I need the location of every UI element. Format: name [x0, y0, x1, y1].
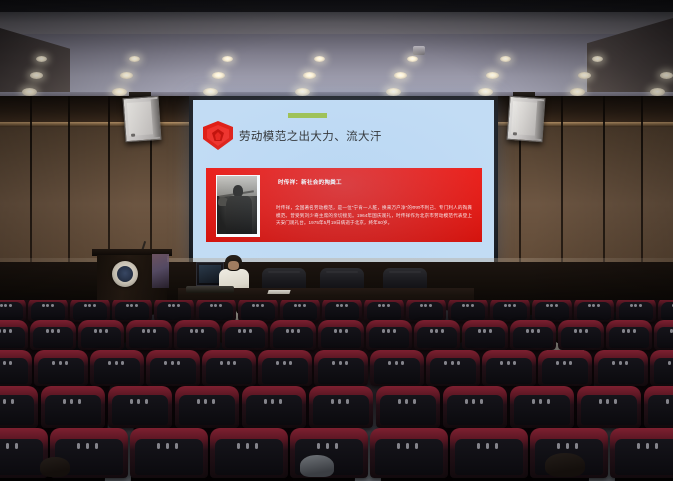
seat-back-slot: [3, 361, 6, 365]
seat-back-slot: [3, 329, 6, 333]
seat-back-slot: [397, 443, 400, 449]
auditorium-seat: [406, 300, 446, 322]
seat-back-slot: [94, 329, 97, 333]
auditorium-seat: [370, 428, 448, 478]
auditorium-seat: [538, 350, 592, 386]
auditorium-seat: [196, 300, 236, 322]
seat-cushion: [455, 439, 522, 475]
auditorium-seat: [490, 300, 530, 322]
auditorium-seat: [510, 386, 574, 428]
seat-back-slot: [477, 443, 480, 449]
projection-screen: 劳动模范之出大力、流大汗 时传祥：新社会的掏粪工 时传祥，全国著名劳动模范，是一…: [193, 100, 494, 266]
auditorium-seat: [376, 386, 440, 428]
seat-back-slot: [622, 329, 625, 333]
lectern-lit-side: [152, 254, 169, 288]
seat-back-slot: [547, 399, 550, 404]
seat-back-slot: [291, 329, 294, 333]
seat-back-slot: [413, 399, 416, 404]
auditorium-seat: [242, 386, 306, 428]
auditorium-seat: [443, 386, 507, 428]
auditorium-seat: [654, 320, 673, 350]
audience-member-head: [545, 453, 585, 477]
auditorium-seat: [610, 428, 673, 478]
seat-back-slot: [588, 304, 591, 307]
seat-back-slot: [227, 361, 230, 365]
seat-back-slot: [249, 329, 252, 333]
ceiling-downlight: [30, 72, 43, 79]
speaker-grill: [127, 101, 153, 136]
auditorium-seat: [222, 320, 268, 350]
seat-back-slot: [382, 329, 385, 333]
seat-back-slot: [415, 443, 418, 449]
ceiling-downlight: [386, 88, 401, 96]
auditorium-seat: [650, 350, 673, 386]
auditorium-seat: [532, 300, 572, 322]
seat-back-slot: [537, 329, 540, 333]
seat-back-slot: [574, 329, 577, 333]
auditorium-seat: [154, 300, 194, 322]
auditorium-seat: [78, 320, 124, 350]
seat-cushion: [375, 439, 442, 475]
auditorium-seat: [574, 300, 614, 322]
seat-back-slot: [378, 304, 381, 307]
ceiling-downlight: [570, 88, 585, 96]
seat-back-slot: [283, 361, 286, 365]
seat-back-slot: [9, 329, 12, 333]
auditorium-seat: [70, 300, 110, 322]
presenter-face: [228, 261, 239, 270]
seat-back-slot: [294, 304, 297, 307]
seat-back-slot: [51, 329, 54, 333]
seat-back-slot: [563, 361, 566, 365]
speaker-side: [535, 101, 545, 139]
ceiling-downlight: [112, 88, 127, 96]
photo-worker-body: [226, 196, 252, 234]
ceiling-downlight: [486, 72, 499, 79]
seat-back-slot: [99, 329, 102, 333]
auditorium-seat: [366, 320, 412, 350]
seat-back-slot: [105, 329, 108, 333]
slide-accent-bar: [288, 113, 327, 118]
seat-back-slot: [495, 443, 498, 449]
seat-back-slot: [42, 304, 45, 307]
ceiling-downlight: [22, 88, 37, 96]
wall-speaker-right: [507, 96, 546, 142]
auditorium-seat: [0, 350, 32, 386]
seat-back-slot: [507, 361, 510, 365]
seat-cushion: [135, 439, 202, 475]
seat-cushion: [215, 439, 282, 475]
auditorium-seat: [174, 320, 220, 350]
seat-cushion: [615, 439, 673, 475]
seat-back-slot: [646, 443, 649, 449]
seat-back-slot: [393, 329, 396, 333]
audience-member-head: [300, 455, 334, 477]
desk-papers: [267, 290, 290, 294]
auditorium-seat: [175, 386, 239, 428]
seat-back-slot: [451, 361, 454, 365]
seat-back-slot: [395, 361, 398, 365]
seat-back-slot: [579, 329, 582, 333]
ceiling-downlight: [660, 72, 673, 79]
seat-back-slot: [387, 329, 390, 333]
auditorium-seat: [594, 350, 648, 386]
seat-back-slot: [130, 399, 133, 404]
seat-back-slot: [238, 329, 241, 333]
sprinkler-head-icon: [413, 46, 425, 55]
ceiling-downlight: [212, 72, 225, 79]
auditorium-seat: [309, 386, 373, 428]
auditorium-seat: [258, 350, 312, 386]
seat-back-slot: [145, 399, 148, 404]
seat-back-slot: [175, 443, 178, 449]
ceiling-downlight: [314, 56, 325, 62]
auditorium-seat: [414, 320, 460, 350]
auditorium-seat: [28, 300, 68, 322]
seat-back-slot: [339, 329, 342, 333]
seat-back-slot: [430, 329, 433, 333]
seat-back-slot: [15, 443, 18, 449]
seat-back-slot: [255, 443, 258, 449]
seat-back-slot: [286, 329, 289, 333]
seat-back-slot: [599, 399, 602, 404]
seat-back-slot: [171, 361, 174, 365]
wall-speaker-left: [123, 96, 162, 142]
seat-back-slot: [190, 329, 193, 333]
content-box-body: 时传祥，全国著名劳动模范，是一位“宁肯一人脏，换来万户净”的राजा不利己、专门…: [276, 204, 472, 227]
auditorium-seat: [510, 320, 556, 350]
seat-back-slot: [6, 443, 9, 449]
speaker-grill: [511, 101, 537, 136]
ceiling-downlight: [129, 56, 140, 62]
seat-back-slot: [339, 361, 342, 365]
seat-back-slot: [246, 443, 249, 449]
seat-back-slot: [637, 443, 640, 449]
seat-back-slot: [345, 329, 348, 333]
seat-back-slot: [210, 304, 213, 307]
auditorium-seat: [450, 428, 528, 478]
seat-back-slot: [486, 443, 489, 449]
auditorium-seat: [34, 350, 88, 386]
auditorium-seat: [577, 386, 641, 428]
auditorium-seat: [448, 300, 488, 322]
seat-back-slot: [633, 329, 636, 333]
auditorium-seat: [482, 350, 536, 386]
auditorium-seat: [322, 300, 362, 322]
seat-back-slot: [95, 443, 98, 449]
seat-back-slot: [252, 304, 255, 307]
seat-back-slot: [670, 329, 673, 333]
ceiling-downlight: [592, 56, 603, 62]
seat-back-slot: [619, 361, 622, 365]
seat-back-slot: [63, 399, 66, 404]
ceiling-downlight: [303, 72, 316, 79]
seat-back-slot: [346, 399, 349, 404]
seat-back-slot: [326, 443, 329, 449]
ceiling-downlight: [222, 56, 233, 62]
auditorium-seat: [0, 300, 26, 322]
seat-back-slot: [201, 329, 204, 333]
seat-back-slot: [480, 399, 483, 404]
desk-equipment: [186, 286, 234, 293]
seat-back-slot: [147, 329, 150, 333]
ceiling-downlight: [478, 88, 493, 96]
seat-back-slot: [336, 304, 339, 307]
seat-back-slot: [478, 329, 481, 333]
seat-back-slot: [59, 361, 62, 365]
seat-back-slot: [57, 329, 60, 333]
seat-back-slot: [264, 399, 267, 404]
seat-back-slot: [614, 399, 617, 404]
audience-member-head: [40, 457, 70, 477]
seat-back-slot: [279, 399, 282, 404]
seat-back-slot: [465, 399, 468, 404]
auditorium-seat: [0, 320, 28, 350]
slide-content-box: 时传祥：新社会的掏粪工 时传祥，全国著名劳动模范，是一位“宁肯一人脏，换来万户净…: [206, 168, 482, 242]
auditorium-seat: [112, 300, 152, 322]
auditorium-seat: [314, 350, 368, 386]
seat-back-slot: [462, 304, 465, 307]
seat-back-slot: [11, 399, 14, 404]
auditorium-seat: [426, 350, 480, 386]
seat-back-slot: [46, 329, 49, 333]
seat-back-slot: [168, 304, 171, 307]
ceiling-downlight: [295, 88, 310, 96]
lecture-hall-photo: 劳动模范之出大力、流大汗 时传祥：新社会的掏粪工 时传祥，全国著名劳动模范，是一…: [0, 0, 673, 481]
ceiling-downlight: [650, 88, 665, 96]
seat-back-slot: [627, 329, 630, 333]
red-star-emblem-icon: [200, 120, 236, 160]
seat-back-slot: [335, 443, 338, 449]
auditorium-seat: [658, 300, 673, 322]
auditorium-seat: [370, 350, 424, 386]
auditorium-seat: [270, 320, 316, 350]
seat-back-slot: [398, 399, 401, 404]
seat-back-slot: [575, 443, 578, 449]
seat-back-slot: [142, 329, 145, 333]
historical-photo-frame: [216, 175, 260, 237]
auditorium-seat: [202, 350, 256, 386]
auditorium-seat: [108, 386, 172, 428]
seat-back-slot: [526, 329, 529, 333]
seat-back-slot: [243, 329, 246, 333]
auditorium-seat: [30, 320, 76, 350]
ceiling-downlight: [36, 56, 47, 62]
content-box-heading: 时传祥：新社会的掏粪工: [278, 178, 342, 186]
auditorium-seat: [318, 320, 364, 350]
auditorium-seat: [146, 350, 200, 386]
seat-back-slot: [77, 443, 80, 449]
auditorium-seat: [606, 320, 652, 350]
seat-back-slot: [532, 399, 535, 404]
seat-back-slot: [435, 329, 438, 333]
historical-photo: [217, 176, 257, 234]
auditorium-seat: [90, 350, 144, 386]
ceiling-downlight: [578, 72, 591, 79]
seat-back-slot: [0, 304, 3, 307]
seat-back-slot: [153, 329, 156, 333]
seat-back-slot: [212, 399, 215, 404]
seat-back-slot: [78, 399, 81, 404]
seat-back-slot: [297, 329, 300, 333]
university-emblem-icon: [112, 261, 138, 287]
seat-back-slot: [531, 329, 534, 333]
seat-back-slot: [86, 443, 89, 449]
seat-back-slot: [630, 304, 633, 307]
auditorium-seat: [238, 300, 278, 322]
seat-back-slot: [483, 329, 486, 333]
auditorium-seat: [364, 300, 404, 322]
seat-back-slot: [557, 443, 560, 449]
seat-back-slot: [489, 329, 492, 333]
seat-back-slot: [166, 443, 169, 449]
seat-back-slot: [666, 399, 669, 404]
auditorium-seat: [41, 386, 105, 428]
seat-back-slot: [334, 329, 337, 333]
speaker-led-icon: [131, 134, 135, 137]
ceiling-downlight: [500, 56, 511, 62]
speaker-led-icon: [513, 132, 517, 135]
seat-back-slot: [195, 329, 198, 333]
seat-cushion: [648, 395, 673, 425]
ceiling-downlight: [394, 72, 407, 79]
speaker-side: [151, 99, 161, 137]
seat-back-slot: [406, 443, 409, 449]
seat-back-slot: [420, 304, 423, 307]
seat-back-slot: [317, 443, 320, 449]
auditorium-seat: [462, 320, 508, 350]
slide-title: 劳动模范之出大力、流大汗: [239, 128, 382, 144]
seat-back-slot: [504, 304, 507, 307]
ceiling-downlight: [407, 56, 418, 62]
seat-back-slot: [126, 304, 129, 307]
seat-back-slot: [441, 329, 444, 333]
seat-back-slot: [84, 304, 87, 307]
auditorium-seat: [210, 428, 288, 478]
auditorium-seat: [0, 386, 38, 428]
auditorium-seat: [126, 320, 172, 350]
seat-back-slot: [115, 361, 118, 365]
audience-area: [0, 300, 673, 481]
seat-back-slot: [566, 443, 569, 449]
seat-back-slot: [0, 329, 1, 333]
seat-back-slot: [237, 443, 240, 449]
auditorium-seat: [280, 300, 320, 322]
seat-back-slot: [157, 443, 160, 449]
seat-back-slot: [546, 304, 549, 307]
auditorium-seat: [130, 428, 208, 478]
seat-back-slot: [655, 443, 658, 449]
ceiling-downlight: [120, 72, 133, 79]
auditorium-seat: [558, 320, 604, 350]
seat-back-slot: [331, 399, 334, 404]
seat-back-slot: [585, 329, 588, 333]
auditorium-seat: [616, 300, 656, 322]
ceiling-downlight: [203, 88, 218, 96]
auditorium-seat: [644, 386, 673, 428]
seat-back-slot: [197, 399, 200, 404]
